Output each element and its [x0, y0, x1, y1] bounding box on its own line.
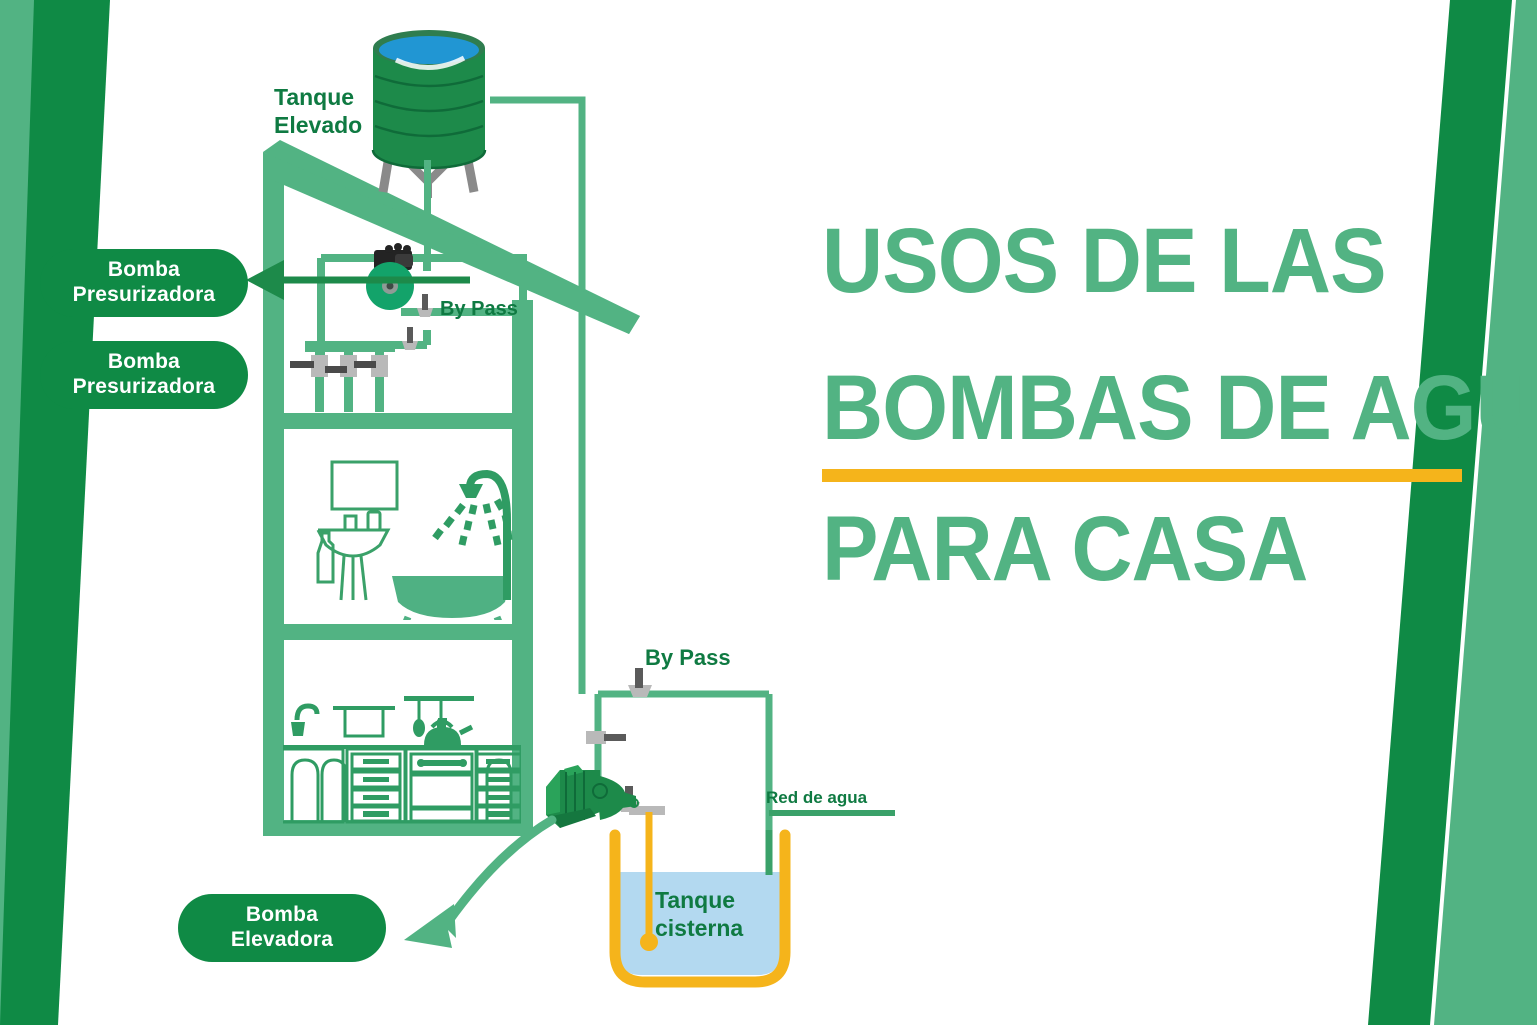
- title-underline-rule: [822, 469, 1462, 482]
- title-block: USOS DE LAS BOMBAS DE AGUA PARA CASA: [822, 218, 1472, 593]
- bathroom-scene: [318, 462, 511, 632]
- label-tanque-elevado-l2: Elevado: [274, 112, 362, 138]
- riser-manifold: [290, 341, 395, 412]
- label-by-pass-bottom: By Pass: [645, 645, 731, 671]
- label-tanque-elevado: Tanque Elevado: [274, 84, 394, 139]
- pill-1-line2: Presurizadora: [73, 283, 216, 306]
- bypass-valve-bottom: [402, 327, 418, 350]
- label-tanque-cisterna: Tanque cisterna: [655, 887, 785, 942]
- pill-3-line1: Bomba: [246, 903, 318, 926]
- pill-1-text: Bomba Presurizadora: [73, 258, 216, 308]
- pill-bomba-presurizadora-1[interactable]: Bomba Presurizadora: [40, 249, 248, 317]
- plumbing-diagram: [0, 0, 900, 1025]
- title-line-1: USOS DE LAS: [822, 218, 1420, 305]
- pill-bomba-elevadora[interactable]: Bomba Elevadora: [178, 894, 386, 962]
- label-tanque-elevado-l1: Tanque: [274, 84, 354, 110]
- pill-bomba-presurizadora-2[interactable]: Bomba Presurizadora: [40, 341, 248, 409]
- title-line-3: PARA CASA: [822, 506, 1420, 593]
- kitchen-scene: [281, 696, 521, 822]
- label-tanque-cisterna-l2: cisterna: [655, 915, 743, 941]
- arrow-to-bomba-elevadora: [404, 820, 552, 948]
- title-line-2: BOMBAS DE AGUA: [822, 365, 1420, 452]
- pill-2-text: Bomba Presurizadora: [73, 350, 216, 400]
- pill-3-text: Bomba Elevadora: [231, 903, 333, 953]
- red-de-agua-main: [769, 810, 895, 816]
- bomba-elevadora-graphic: [546, 765, 638, 828]
- pill-2-line1: Bomba: [108, 350, 180, 373]
- pill-2-line2: Presurizadora: [73, 375, 216, 398]
- infographic-canvas: Bomba Presurizadora Bomba Presurizadora …: [0, 0, 1537, 1025]
- label-by-pass-top: By Pass: [440, 297, 518, 321]
- pill-1-line1: Bomba: [108, 258, 180, 281]
- right-riser-pipe: [490, 100, 582, 694]
- label-red-de-agua: Red de agua: [766, 788, 867, 808]
- label-tanque-cisterna-l1: Tanque: [655, 887, 735, 913]
- pill-3-line2: Elevadora: [231, 928, 333, 951]
